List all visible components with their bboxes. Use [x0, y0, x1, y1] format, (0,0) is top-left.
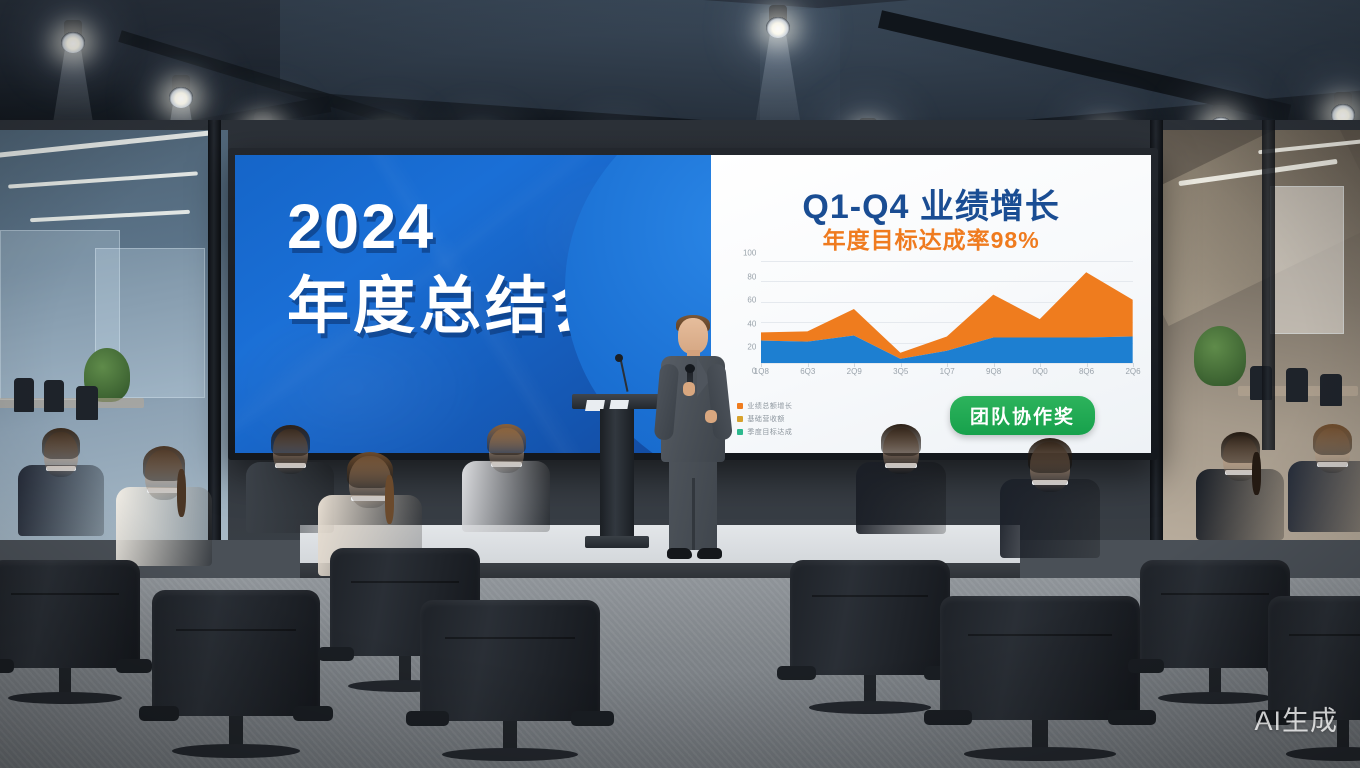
presenter-head	[678, 318, 708, 354]
podium-base	[585, 536, 649, 548]
chart-y-tick-label: 80	[747, 272, 756, 281]
audience-hair	[1028, 438, 1072, 473]
chart-x-tick-label: 2Q6	[1125, 367, 1140, 376]
award-badge: 团队协作奖	[950, 396, 1095, 435]
audience-ponytail	[177, 469, 186, 517]
audience-ponytail	[385, 475, 394, 524]
legend-swatch-icon	[737, 416, 743, 422]
chart-x-axis: 1Q86Q32Q93Q51Q79Q80Q08Q62Q6	[761, 363, 1133, 379]
legend-label: 季度目标达成	[747, 427, 792, 437]
podium	[572, 380, 664, 558]
chart-y-tick-label: 20	[747, 343, 756, 352]
chart-plot-area: 020406080100 1Q86Q32Q93Q51Q79Q80Q08Q62Q6	[729, 261, 1137, 379]
spotlight-icon	[765, 5, 791, 39]
chart-legend-item: 基础营收额	[737, 414, 792, 424]
audience-member	[18, 428, 104, 536]
audience-chair	[152, 590, 320, 765]
chart-x-tick-label: 2Q9	[847, 367, 862, 376]
chart-subtitle: 年度目标达成率98%	[711, 221, 1151, 255]
audience-member	[462, 424, 550, 532]
chart-legend: 业绩总额增长基础营收额季度目标达成	[737, 401, 792, 437]
slide-year: 2024	[287, 191, 435, 263]
audience-hair	[42, 428, 80, 459]
microphone-head-icon	[685, 364, 695, 373]
audience-member	[856, 424, 946, 534]
chart-x-tick-label: 1Q7	[940, 367, 955, 376]
chart-x-tick-label: 6Q3	[800, 367, 815, 376]
chart-y-tick-label: 60	[747, 296, 756, 305]
legend-label: 业绩总额增长	[747, 401, 792, 411]
chart-area-series	[761, 261, 1133, 363]
audience-chair	[940, 596, 1140, 768]
chart-y-axis: 020406080100	[729, 261, 759, 379]
audience-ponytail	[1252, 452, 1261, 495]
audience-chair	[420, 600, 600, 768]
spotlight-icon	[60, 20, 86, 54]
audience-member	[1000, 438, 1100, 558]
chart-x-tick-label: 8Q6	[1079, 367, 1094, 376]
audience-member	[1196, 432, 1284, 540]
legend-swatch-icon	[737, 429, 743, 435]
chart-x-tick-label: 1Q8	[754, 367, 769, 376]
audience-chair	[1268, 596, 1360, 768]
presenter	[655, 318, 731, 562]
window-mullion	[1262, 120, 1275, 450]
chart-x-tick-label: 0Q0	[1033, 367, 1048, 376]
legend-swatch-icon	[737, 403, 743, 409]
watermark: AI生成	[1254, 699, 1338, 738]
chart-legend-item: 业绩总额增长	[737, 401, 792, 411]
chart-legend-item: 季度目标达成	[737, 427, 792, 437]
audience-hair	[271, 425, 310, 456]
slide-right-panel: Q1-Q4 业绩增长 年度目标达成率98% 020406080100 1Q86Q…	[711, 155, 1151, 453]
audience-hair	[1313, 424, 1352, 455]
audience-member	[1288, 424, 1360, 532]
podium-top	[572, 394, 664, 409]
audience-member	[116, 446, 212, 566]
chart-canvas	[761, 261, 1133, 363]
microphone-icon	[615, 354, 623, 362]
audience-hair	[487, 424, 526, 455]
audience-chair	[790, 560, 950, 720]
chart-x-tick-label: 3Q5	[893, 367, 908, 376]
chart-y-tick-label: 40	[747, 319, 756, 328]
audience-hair	[881, 424, 921, 456]
chart-y-tick-label: 100	[743, 249, 756, 258]
legend-label: 基础营收额	[747, 414, 785, 424]
conference-hall-scene: 2024 年度总结会 Q1-Q4 业绩增长 年度目标达成率98% 0204060…	[0, 0, 1360, 768]
podium-column	[600, 409, 634, 536]
audience-chair	[0, 560, 140, 710]
spotlight-icon	[168, 75, 194, 109]
chart-x-tick-label: 9Q8	[986, 367, 1001, 376]
